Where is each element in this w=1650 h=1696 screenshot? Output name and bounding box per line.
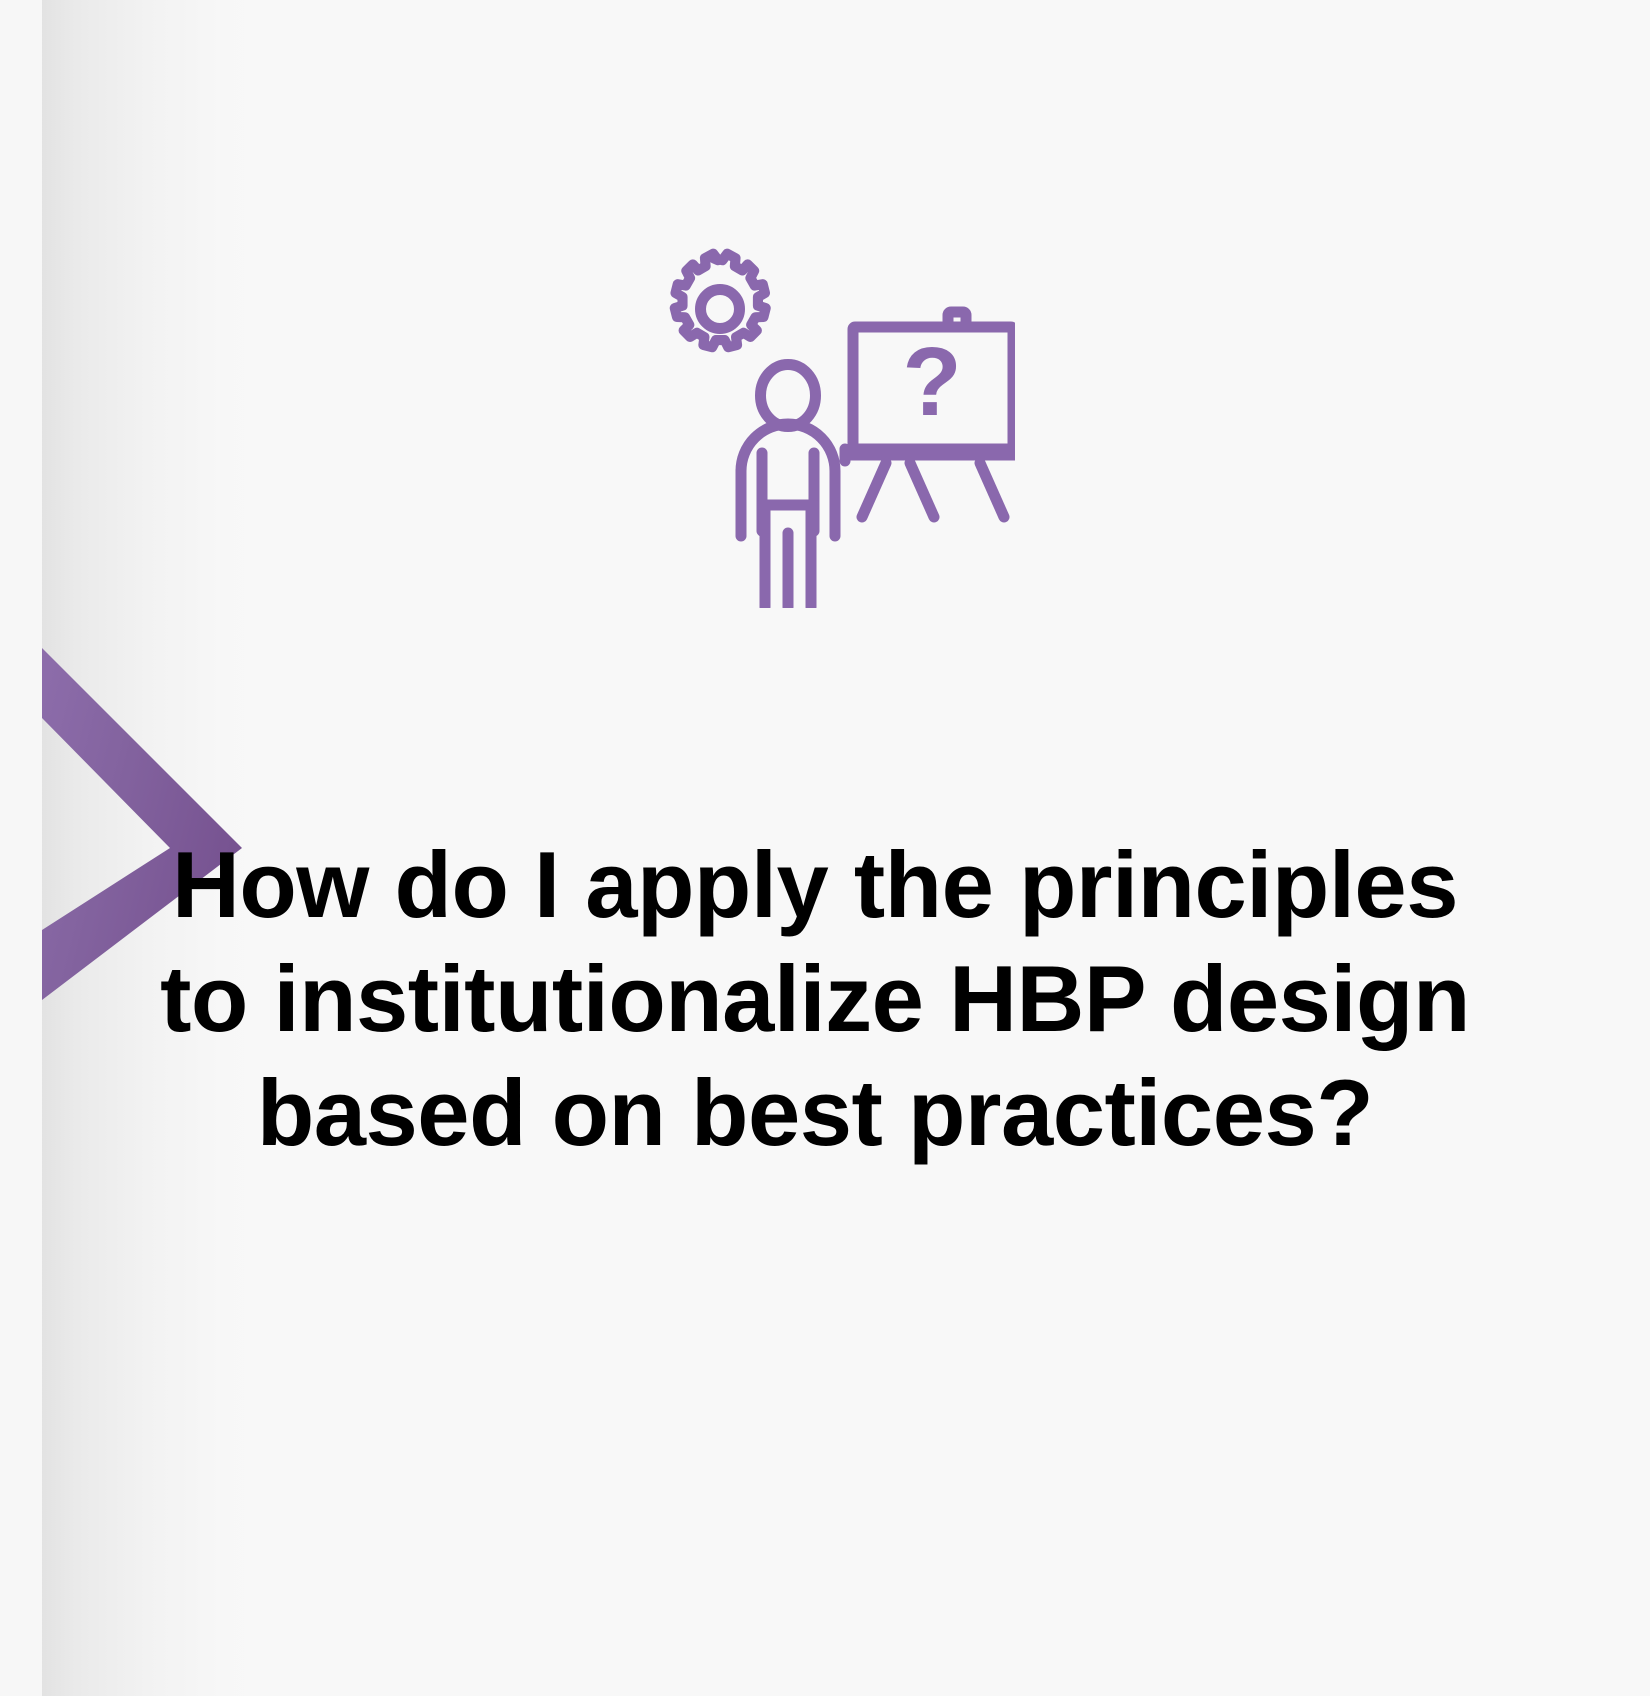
question-mark-icon: ? xyxy=(902,327,961,436)
svg-text:?: ? xyxy=(902,327,961,436)
person-icon xyxy=(741,365,835,608)
illustration-person-gear-easel: ? xyxy=(660,243,1015,608)
slide-root: ? How do I apply the principles to insti… xyxy=(0,0,1650,1696)
gear-icon xyxy=(675,254,766,347)
page-title: How do I apply the principles to institu… xyxy=(150,828,1480,1170)
